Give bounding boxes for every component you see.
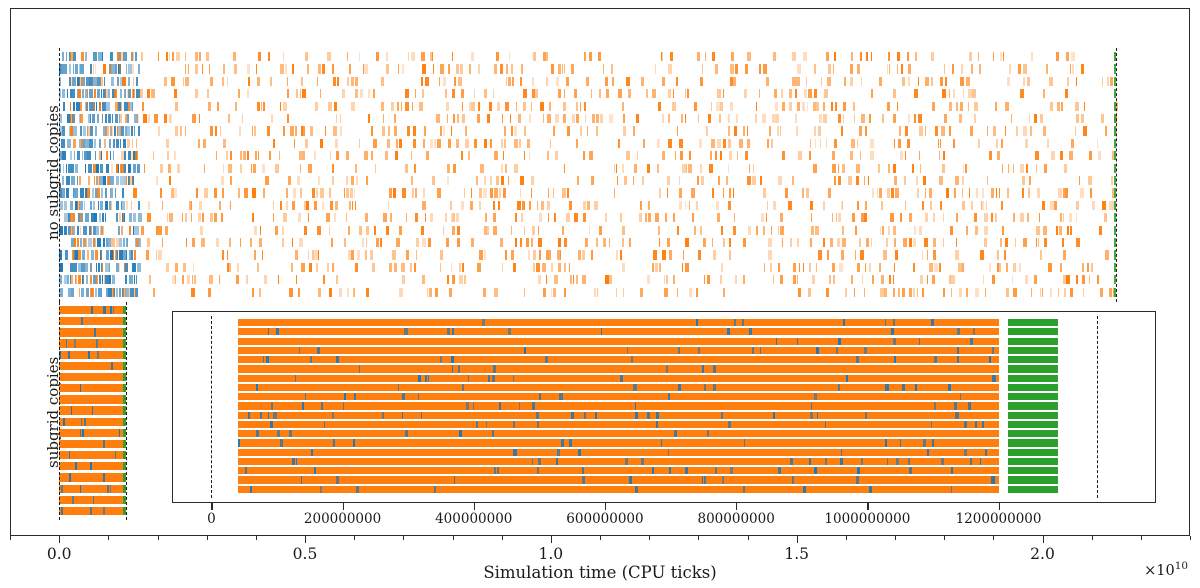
task-bar <box>573 328 575 335</box>
task-bar <box>621 421 623 428</box>
task-bar <box>854 421 856 428</box>
task-bar <box>428 375 429 382</box>
task-bar <box>689 412 692 419</box>
panel-subgrid-copies-inset <box>0 0 1200 588</box>
task-bar <box>565 375 566 382</box>
task-bar <box>482 319 484 326</box>
task-bar <box>293 365 296 372</box>
task-bar <box>248 412 251 419</box>
task-bar <box>1008 458 1057 465</box>
task-bar <box>704 384 706 391</box>
task-bar <box>559 393 562 400</box>
task-bar <box>675 402 678 409</box>
task-bar <box>356 486 359 493</box>
task-bar <box>315 375 316 382</box>
task-bar <box>423 439 426 446</box>
task-bar <box>585 421 588 428</box>
x-axis-title: Simulation time (CPU ticks) <box>0 563 1200 582</box>
task-bar <box>422 319 425 326</box>
task-bar <box>385 356 386 363</box>
task-bar <box>406 449 408 456</box>
task-bar <box>486 421 487 428</box>
task-bar <box>617 328 618 335</box>
task-bar <box>1008 402 1057 409</box>
task-bar <box>673 347 674 354</box>
task-bar <box>1008 365 1057 372</box>
task-bar <box>373 393 374 400</box>
task-bar <box>415 476 417 483</box>
task-bar <box>513 421 515 428</box>
task-bar <box>499 402 502 409</box>
task-bar <box>1008 421 1057 428</box>
task-bar <box>305 393 306 400</box>
task-bar <box>893 338 896 345</box>
task-bar <box>767 439 770 446</box>
task-bar <box>390 486 393 493</box>
task-bar <box>523 439 525 446</box>
task-bar <box>629 476 631 483</box>
task-bar <box>591 384 593 391</box>
task-bar <box>995 402 998 409</box>
task-bar <box>765 421 768 428</box>
task-bar <box>984 486 986 493</box>
task-bar <box>647 412 650 419</box>
task-bar <box>506 430 508 437</box>
task-bar <box>809 458 811 465</box>
task-bar <box>669 467 671 474</box>
task-bar <box>951 467 953 474</box>
inset-tick-mark <box>343 503 344 510</box>
task-bar <box>257 328 259 335</box>
task-bar <box>415 439 418 446</box>
task-bar <box>494 467 497 474</box>
x-axis-minor-tick-mark <box>1092 536 1093 540</box>
task-bar <box>353 439 355 446</box>
task-bar <box>968 449 969 456</box>
task-bar <box>930 430 931 437</box>
task-bar <box>838 412 841 419</box>
task-bar <box>379 319 381 326</box>
task-bar <box>424 430 426 437</box>
task-bar <box>728 421 730 428</box>
task-bar <box>557 449 559 456</box>
task-bar <box>1008 486 1057 493</box>
task-bar <box>424 338 426 345</box>
time-marker-dashed-line <box>211 316 212 498</box>
task-bar <box>468 375 469 382</box>
task-bar <box>976 347 978 354</box>
task-bar <box>412 467 415 474</box>
task-bar <box>973 328 975 335</box>
task-bar <box>948 384 950 391</box>
task-bar <box>964 449 967 456</box>
task-bar <box>452 365 454 372</box>
thread-row <box>0 393 1200 400</box>
task-bar <box>238 449 999 456</box>
task-bar <box>538 458 541 465</box>
task-bar <box>717 328 719 335</box>
task-bar <box>537 421 539 428</box>
task-bar <box>923 439 926 446</box>
task-bar <box>440 356 442 363</box>
task-bar <box>322 412 323 419</box>
task-bar <box>394 356 397 363</box>
task-bar <box>698 347 699 354</box>
x-axis-tick-mark <box>59 536 60 543</box>
task-bar <box>915 384 917 391</box>
task-bar <box>872 439 873 446</box>
task-bar <box>670 486 672 493</box>
task-bar <box>301 476 302 483</box>
task-bar <box>782 393 784 400</box>
task-bar <box>238 338 999 345</box>
task-bar <box>296 430 299 437</box>
task-bar <box>773 412 775 419</box>
task-bar <box>838 338 841 345</box>
task-bar <box>864 347 867 354</box>
task-bar <box>730 467 732 474</box>
task-bar <box>238 402 999 409</box>
task-bar <box>613 347 616 354</box>
task-bar <box>351 393 353 400</box>
task-bar <box>668 449 669 456</box>
task-bar <box>532 384 533 391</box>
task-bar <box>268 412 270 419</box>
task-bar <box>339 476 341 483</box>
task-bar <box>644 402 646 409</box>
task-bar <box>794 458 797 465</box>
x-axis-tick-mark <box>797 536 798 543</box>
task-bar <box>370 319 372 326</box>
task-bar <box>238 384 999 391</box>
task-bar <box>885 439 887 446</box>
task-bar <box>975 421 976 428</box>
task-bar <box>601 328 602 335</box>
task-bar <box>865 412 867 419</box>
task-bar <box>803 486 806 493</box>
x-axis-minor-tick-mark <box>502 536 503 540</box>
x-axis-tick-mark <box>1043 536 1044 543</box>
task-bar <box>869 486 872 493</box>
task-bar <box>324 421 325 428</box>
task-bar <box>856 356 859 363</box>
task-bar <box>982 421 984 428</box>
task-bar <box>565 486 567 493</box>
task-bar <box>238 365 999 372</box>
inset-tick-label: 200000000 <box>304 511 381 527</box>
task-bar <box>937 338 938 345</box>
thread-row <box>0 384 1200 391</box>
task-bar <box>797 338 798 345</box>
time-marker-dashed-line <box>1097 316 1098 498</box>
task-bar <box>434 486 436 493</box>
task-bar <box>596 476 597 483</box>
task-bar <box>331 430 334 437</box>
task-bar <box>320 486 323 493</box>
task-bar <box>653 356 655 363</box>
task-bar <box>840 421 842 428</box>
x-axis-minor-tick-mark <box>895 536 896 540</box>
task-bar <box>454 476 456 483</box>
task-bar <box>790 458 793 465</box>
task-bar <box>418 393 419 400</box>
task-bar <box>635 412 638 419</box>
task-bar <box>861 449 863 456</box>
task-bar <box>933 458 935 465</box>
task-bar <box>661 439 662 446</box>
task-bar <box>441 402 443 409</box>
task-bar <box>885 319 887 326</box>
task-bar <box>768 328 770 335</box>
task-bar <box>510 486 512 493</box>
task-bar <box>900 439 901 446</box>
task-bar <box>545 356 547 363</box>
task-bar <box>635 486 637 493</box>
thread-row <box>0 402 1200 409</box>
task-bar <box>722 476 724 483</box>
task-bar <box>752 347 754 354</box>
task-bar <box>832 365 835 372</box>
task-bar <box>475 365 477 372</box>
task-bar <box>833 319 836 326</box>
task-bar <box>582 476 584 483</box>
task-bar <box>766 365 767 372</box>
task-bar <box>795 421 796 428</box>
task-bar <box>501 476 502 483</box>
task-bar <box>502 356 503 363</box>
task-bar <box>851 421 854 428</box>
task-bar <box>957 356 959 363</box>
x-axis-tick-label: 2.0 <box>1030 545 1055 563</box>
task-bar <box>771 476 773 483</box>
task-bar <box>277 430 280 437</box>
task-bar <box>348 356 351 363</box>
task-bar <box>704 476 705 483</box>
task-bar <box>691 486 693 493</box>
task-bar <box>951 486 952 493</box>
task-bar <box>671 375 674 382</box>
task-bar <box>268 328 269 335</box>
task-bar <box>278 384 279 391</box>
task-bar <box>536 402 538 409</box>
task-bar <box>476 421 478 428</box>
thread-row <box>0 365 1200 372</box>
task-bar <box>814 393 817 400</box>
task-bar <box>792 476 794 483</box>
task-bar <box>919 338 921 345</box>
x-axis-minor-tick-mark <box>993 536 994 540</box>
task-bar <box>782 458 783 465</box>
x-axis-minor-tick-mark <box>453 536 454 540</box>
task-bar <box>345 384 348 391</box>
task-bar <box>868 319 871 326</box>
task-bar <box>668 393 670 400</box>
task-bar <box>252 356 255 363</box>
task-bar <box>683 356 686 363</box>
task-bar <box>960 356 962 363</box>
task-bar <box>990 439 991 446</box>
task-bar <box>581 458 584 465</box>
task-bar <box>477 347 479 354</box>
task-bar <box>584 412 586 419</box>
task-bar <box>840 458 843 465</box>
task-bar <box>238 439 240 446</box>
thread-row <box>0 486 1200 493</box>
task-bar <box>1008 356 1057 363</box>
task-bar <box>316 319 319 326</box>
task-bar <box>552 449 553 456</box>
task-bar <box>358 412 360 419</box>
task-bar <box>778 467 781 474</box>
task-bar <box>495 402 497 409</box>
task-bar <box>664 449 666 456</box>
inset-tick-mark <box>867 503 868 510</box>
task-bar <box>625 458 628 465</box>
task-bar <box>908 486 911 493</box>
task-bar <box>519 402 521 409</box>
task-bar <box>284 476 285 483</box>
task-bar <box>311 449 313 456</box>
inset-tick-mark <box>211 503 212 510</box>
x-axis-minor-tick-mark <box>649 536 650 540</box>
x-axis-tick-mark <box>305 536 306 543</box>
task-bar <box>372 421 374 428</box>
task-bar <box>1008 328 1057 335</box>
task-bar <box>382 412 383 419</box>
task-bar <box>273 412 276 419</box>
task-bar <box>628 375 630 382</box>
task-bar <box>582 467 584 474</box>
task-bar <box>443 430 445 437</box>
task-bar <box>578 449 581 456</box>
task-bar <box>402 412 403 419</box>
task-bar <box>904 319 905 326</box>
task-bar <box>399 467 400 474</box>
task-bar <box>746 430 749 437</box>
task-bar <box>276 328 279 335</box>
task-bar <box>666 365 667 372</box>
x-axis-minor-tick-mark <box>354 536 355 540</box>
task-bar <box>332 412 333 419</box>
task-bar <box>330 467 331 474</box>
task-bar <box>761 356 763 363</box>
task-bar <box>966 384 968 391</box>
x-axis-minor-tick-mark <box>748 536 749 540</box>
task-bar <box>566 356 567 363</box>
task-bar <box>794 467 797 474</box>
task-bar <box>697 412 699 419</box>
task-bar <box>885 384 888 391</box>
task-bar <box>726 384 728 391</box>
task-bar <box>604 356 606 363</box>
task-bar <box>310 356 312 363</box>
task-bar <box>468 347 471 354</box>
task-bar <box>896 458 898 465</box>
task-bar <box>810 412 813 419</box>
task-bar <box>238 356 999 363</box>
task-bar <box>974 384 977 391</box>
task-bar <box>536 412 539 419</box>
task-bar <box>991 476 994 483</box>
task-bar <box>725 356 727 363</box>
task-bar <box>359 365 360 372</box>
task-bar <box>828 375 829 382</box>
task-bar <box>302 402 304 409</box>
task-bar <box>776 356 779 363</box>
task-bar <box>713 384 716 391</box>
task-bar <box>686 384 688 391</box>
task-bar <box>678 384 681 391</box>
task-bar <box>256 430 258 437</box>
task-bar <box>937 421 938 428</box>
x-axis-minor-tick-mark <box>108 536 109 540</box>
thread-row <box>0 439 1200 446</box>
task-bar <box>238 458 999 465</box>
task-bar <box>824 467 825 474</box>
task-bar <box>726 365 729 372</box>
task-bar <box>908 458 910 465</box>
task-bar <box>336 476 338 483</box>
task-bar <box>283 402 286 409</box>
task-bar <box>955 365 958 372</box>
task-bar <box>979 412 980 419</box>
x-axis-tick-label: 0.0 <box>47 545 72 563</box>
task-bar <box>539 393 541 400</box>
task-bar <box>430 319 432 326</box>
task-bar <box>413 430 416 437</box>
task-bar <box>349 458 352 465</box>
task-bar <box>843 319 845 326</box>
task-bar <box>434 365 437 372</box>
task-bar <box>432 467 434 474</box>
task-bar <box>459 430 462 437</box>
inset-tick-mark <box>605 503 606 510</box>
task-bar <box>602 338 605 345</box>
task-bar <box>431 449 433 456</box>
task-bar <box>894 356 896 363</box>
task-bar <box>936 412 937 419</box>
thread-row <box>0 467 1200 474</box>
task-bar <box>514 439 515 446</box>
task-bar <box>734 319 736 326</box>
task-bar <box>584 347 586 354</box>
task-bar <box>631 356 634 363</box>
task-bar <box>715 338 716 345</box>
x-axis-minor-tick-mark <box>846 536 847 540</box>
task-bar <box>919 375 922 382</box>
task-bar <box>620 375 623 382</box>
task-bar <box>513 375 515 382</box>
task-bar <box>985 449 986 456</box>
task-bar <box>738 393 741 400</box>
task-bar <box>980 458 981 465</box>
task-bar <box>238 421 999 428</box>
task-bar <box>1008 430 1057 437</box>
task-bar <box>553 384 556 391</box>
task-bar <box>902 384 905 391</box>
task-bar <box>934 356 937 363</box>
task-bar <box>692 319 694 326</box>
task-bar <box>874 347 875 354</box>
task-bar <box>517 365 518 372</box>
task-bar <box>647 421 648 428</box>
task-bar <box>308 384 311 391</box>
task-bar <box>448 421 449 428</box>
task-bar <box>447 328 450 335</box>
task-bar <box>597 393 599 400</box>
task-bar <box>608 439 611 446</box>
task-bar <box>841 449 842 456</box>
